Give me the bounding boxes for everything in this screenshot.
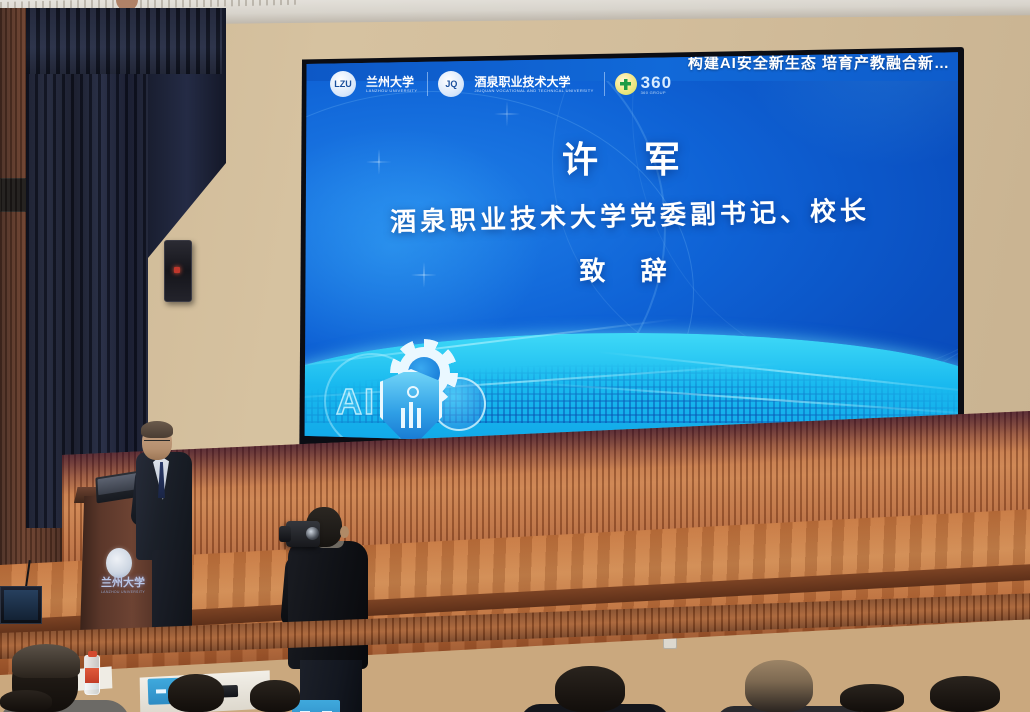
water-bottle-icon [84, 655, 100, 695]
name-card-mark [300, 705, 332, 712]
logo-360-text: 360 360 GROUP [641, 74, 672, 95]
camera-lens-icon [306, 527, 319, 540]
shield-mark [407, 386, 419, 398]
ai-security-emblem: AI [324, 341, 484, 451]
slide-title: 许 军 [302, 131, 958, 183]
sparkle-icon [500, 107, 514, 121]
auditorium-photo: 构建AI安全新生态 培育产教融合新… LZU 兰州大学 LANZHOU UNIV… [0, 0, 1030, 712]
360-logo: 360 360 GROUP [615, 73, 672, 95]
logo-middle-cn: 酒泉职业技术大学 [474, 76, 593, 88]
curtain-valance [26, 8, 222, 74]
audience-hair [12, 644, 80, 678]
logo-360-sub: 360 GROUP [641, 91, 672, 95]
podium-university-cn: 兰州大学 [92, 578, 154, 589]
audience-head [840, 684, 904, 712]
wall-panel-icon [0, 178, 26, 212]
shield-bars [395, 402, 427, 428]
bottle-cap [88, 651, 97, 657]
slide-subtitle-secondary: 致 辞 [302, 251, 958, 288]
monitor-screen [4, 590, 38, 620]
bottle-label [85, 668, 99, 683]
audience-head [745, 660, 813, 712]
audience-head [250, 680, 300, 712]
speaker-led-indicator [174, 267, 180, 273]
university-seal-icon: LZU [330, 71, 356, 97]
led-screen: 构建AI安全新生态 培育产教融合新… LZU 兰州大学 LANZHOU UNIV… [302, 51, 958, 457]
audience-head [930, 676, 1000, 712]
presenter-glasses-icon [144, 440, 170, 447]
logo-divider [427, 72, 428, 96]
jiuquan-seal-icon: JQ [438, 71, 464, 97]
emblem-ai-label: AI [336, 381, 376, 423]
audience-head [555, 666, 625, 712]
presenter-hair [141, 421, 173, 438]
audience-head [0, 690, 52, 712]
slide-logo-bar: LZU 兰州大学 LANZHOU UNIVERSITY JQ 酒泉职业技术大学 … [330, 71, 672, 97]
monitor-icon [0, 586, 42, 624]
video-camera-icon [286, 521, 320, 547]
logo-left-cn: 兰州大学 [366, 76, 417, 88]
logo-left-en: LANZHOU UNIVERSITY [366, 88, 417, 93]
logo-divider [604, 72, 605, 96]
podium-university-en: LANZHOU UNIVERSITY [88, 590, 158, 594]
stage-curtain [26, 8, 148, 528]
audience-head [168, 674, 224, 712]
university-seal-icon [106, 548, 132, 578]
wall-speaker-icon [164, 240, 192, 302]
logo-middle-en: JIUQUAN VOCATIONAL AND TECHNICAL UNIVERS… [474, 88, 593, 93]
360-shield-icon [615, 73, 637, 95]
videographer-ear [340, 526, 349, 538]
